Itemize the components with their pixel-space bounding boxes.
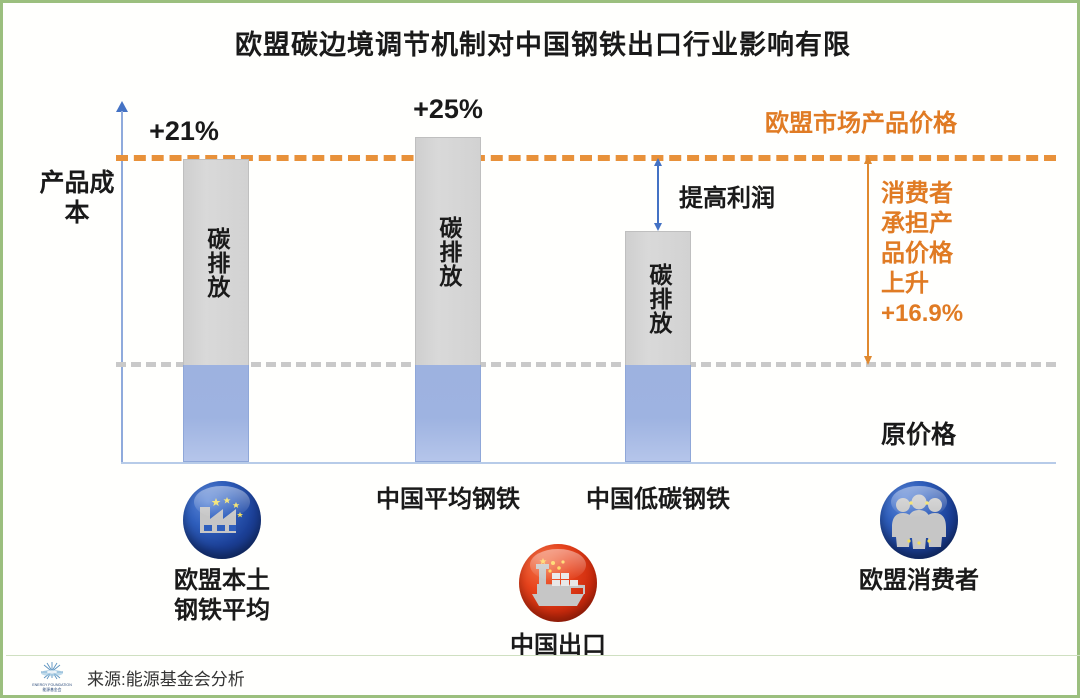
consumer-burden-line-4: 上升 <box>881 269 1009 299</box>
original-price-label: 原价格 <box>881 415 956 451</box>
energy-foundation-logo: ENERGY FOUNDATION 能源基金会 <box>23 658 81 694</box>
bar-2-base-segment <box>415 365 481 462</box>
source-text: 来源:能源基金会分析 <box>87 665 245 690</box>
chart-plot-area: 产品成本 +21% 碳排放 +25% 碳排放 碳排放 欧盟市场产品价格 提高 <box>3 3 1080 698</box>
bar-2-carbon-label: 碳排放 <box>435 216 461 288</box>
y-axis-label: 产品成本 <box>39 169 115 228</box>
bar-1-carbon-label: 碳排放 <box>203 227 229 299</box>
category-label-eu-domestic-steel-line-1: 欧盟本土 <box>132 566 312 596</box>
consumer-burden-line-1: 消费者 <box>881 179 1009 209</box>
bar-1-carbon-segment: 碳排放 <box>183 159 249 365</box>
profit-increase-arrow-icon <box>653 158 663 231</box>
category-label-china-export: 中国出口 <box>468 631 648 661</box>
svg-text:ENERGY FOUNDATION: ENERGY FOUNDATION <box>32 683 72 687</box>
eu-consumers-icon <box>880 481 958 559</box>
consumer-burden-line-5: +16.9% <box>881 299 1009 329</box>
consumer-burden-text: 消费者 承担产 品价格 上升 +16.9% <box>881 179 1009 329</box>
china-export-ship-icon <box>519 544 597 622</box>
svg-text:能源基金会: 能源基金会 <box>43 687 62 692</box>
bar-3-carbon-segment: 碳排放 <box>625 231 691 365</box>
category-label-eu-domestic-steel-line-2: 钢铁平均 <box>132 596 312 626</box>
bar-2-carbon-segment: 碳排放 <box>415 137 481 365</box>
bar-3-carbon-label: 碳排放 <box>645 263 671 335</box>
infographic-frame: 欧盟碳边境调节机制对中国钢铁出口行业影响有限 产品成本 +21% 碳排放 +25… <box>0 0 1080 698</box>
consumer-burden-arrow-icon <box>863 155 873 365</box>
consumer-burden-line-2: 承担产 <box>881 209 1009 239</box>
bar-2-percent-label: +25% <box>378 94 518 125</box>
category-label-china-lowcarbon-steel: 中国低碳钢铁 <box>568 485 748 515</box>
footer-divider <box>6 655 1080 656</box>
category-label-eu-domestic-steel: 欧盟本土 钢铁平均 <box>132 566 312 626</box>
consumer-burden-line-3: 品价格 <box>881 239 1009 269</box>
category-label-eu-consumers: 欧盟消费者 <box>829 566 1009 596</box>
bar-3-base-segment <box>625 365 691 462</box>
bar-3: 碳排放 <box>625 231 691 462</box>
eu-steel-factory-icon <box>183 481 261 559</box>
eu-market-price-reference-line <box>116 155 1056 161</box>
original-price-reference-line <box>116 362 1056 367</box>
category-label-china-average-steel: 中国平均钢铁 <box>358 485 538 515</box>
y-axis-label-text: 产品成本 <box>39 169 114 227</box>
bar-1-base-segment <box>183 365 249 462</box>
eu-market-price-label: 欧盟市场产品价格 <box>765 103 957 138</box>
bar-2: 碳排放 <box>415 137 481 462</box>
x-axis-line <box>121 462 1056 464</box>
y-axis-line <box>121 111 123 463</box>
bar-1: 碳排放 <box>183 159 249 462</box>
bar-1-percent-label: +21% <box>114 116 254 147</box>
profit-increase-label: 提高利润 <box>679 178 775 213</box>
